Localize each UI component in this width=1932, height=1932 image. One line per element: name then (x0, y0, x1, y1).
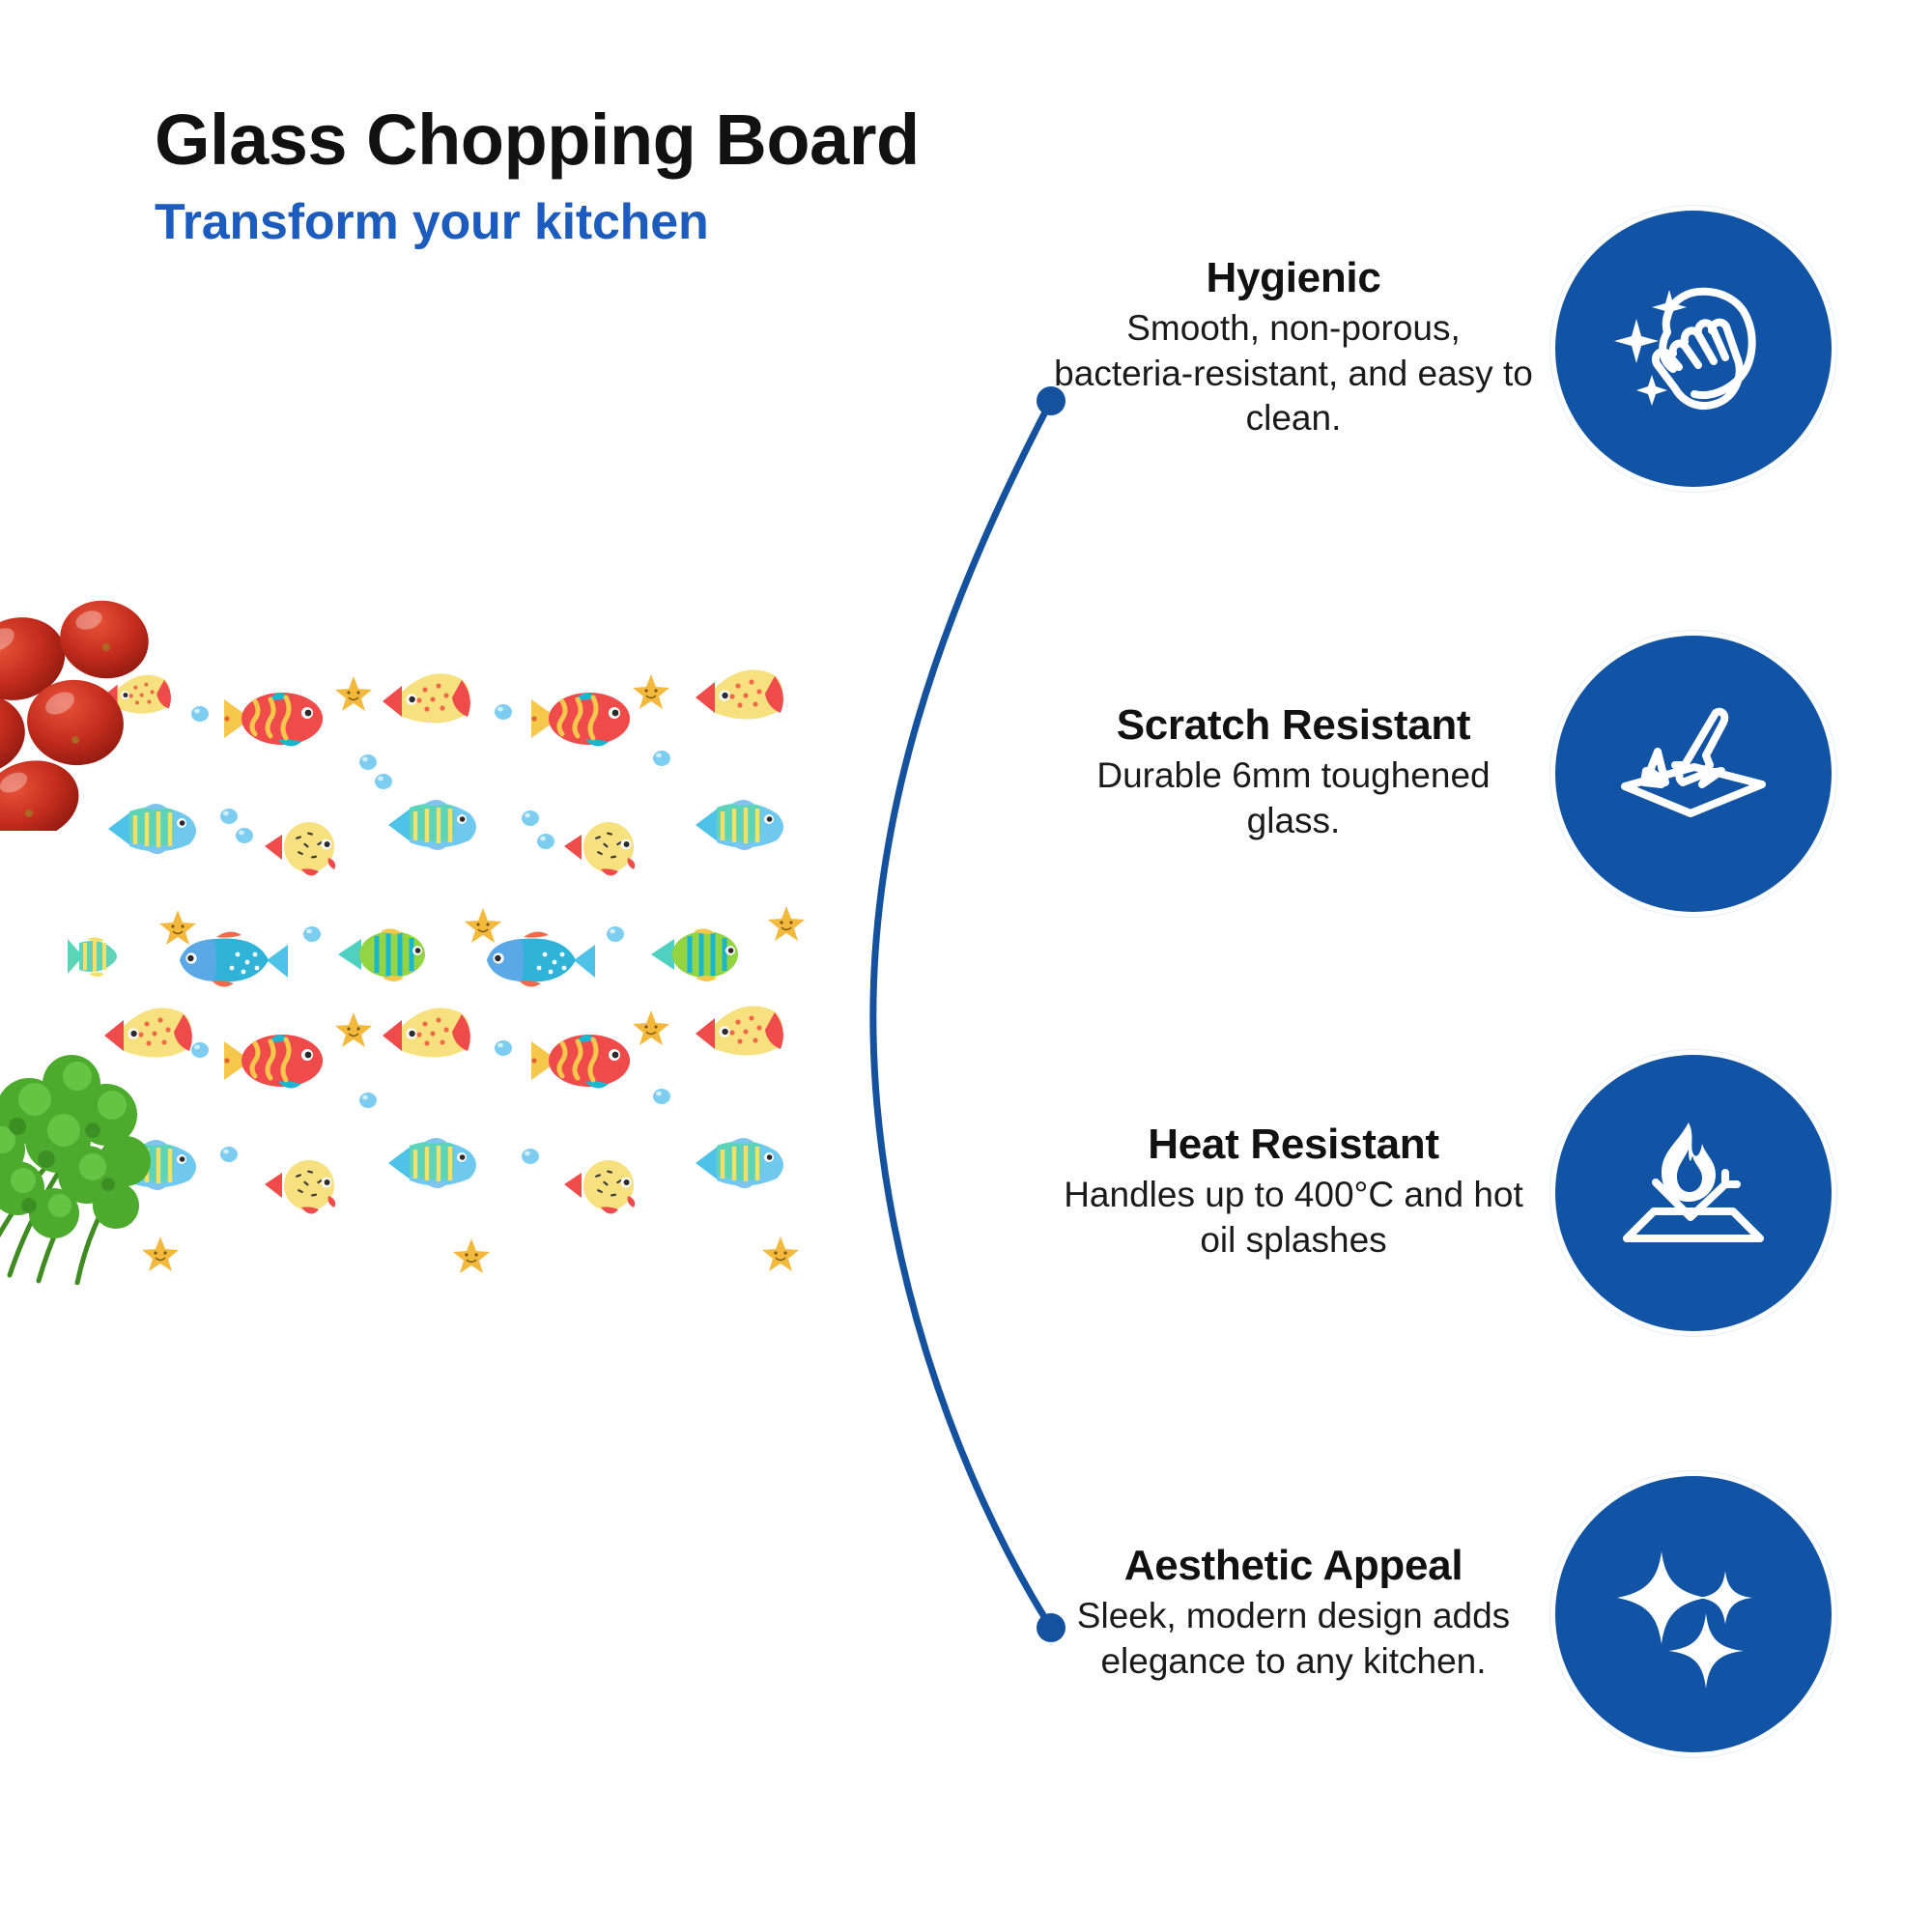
feature-description: Smooth, non-porous, bacteria-resistant, … (1053, 306, 1534, 441)
feature-description: Sleek, modern design adds elegance to an… (1053, 1594, 1534, 1684)
feature-heat-resistant[interactable]: Heat Resistant Handles up to 400°C and h… (1053, 1055, 1932, 1331)
product-image (0, 618, 869, 1294)
knife-impact-surface-icon (1555, 636, 1832, 912)
feature-description: Durable 6mm toughened glass. (1053, 753, 1534, 843)
feature-text-block: Hygienic Smooth, non-porous, bacteria-re… (1053, 256, 1555, 441)
feature-aesthetic-appeal[interactable]: Aesthetic Appeal Sleek, modern design ad… (1053, 1476, 1932, 1752)
cherry-tomatoes (0, 599, 213, 831)
feature-text-block: Heat Resistant Handles up to 400°C and h… (1053, 1122, 1555, 1263)
page-title: Glass Chopping Board (155, 104, 1121, 176)
flame-heat-deflect-icon (1555, 1055, 1832, 1331)
feature-title: Aesthetic Appeal (1053, 1544, 1534, 1588)
feature-title: Scratch Resistant (1053, 703, 1534, 748)
headline-block: Glass Chopping Board Transform your kitc… (155, 104, 1121, 247)
feature-title: Hygienic (1053, 256, 1534, 300)
parsley-garnish (0, 995, 241, 1285)
page-subtitle: Transform your kitchen (155, 197, 1121, 247)
hand-wiping-sparkle-icon (1555, 211, 1832, 487)
feature-description: Handles up to 400°C and hot oil splashes (1053, 1173, 1534, 1263)
feature-scratch-resistant[interactable]: Scratch Resistant Durable 6mm toughened … (1053, 636, 1932, 912)
feature-hygienic[interactable]: Hygienic Smooth, non-porous, bacteria-re… (1053, 211, 1932, 487)
sparkle-stars-icon (1555, 1476, 1832, 1752)
feature-text-block: Scratch Resistant Durable 6mm toughened … (1053, 703, 1555, 843)
infographic-canvas: Glass Chopping Board Transform your kitc… (0, 0, 1932, 1932)
feature-title: Heat Resistant (1053, 1122, 1534, 1167)
feature-text-block: Aesthetic Appeal Sleek, modern design ad… (1053, 1544, 1555, 1684)
